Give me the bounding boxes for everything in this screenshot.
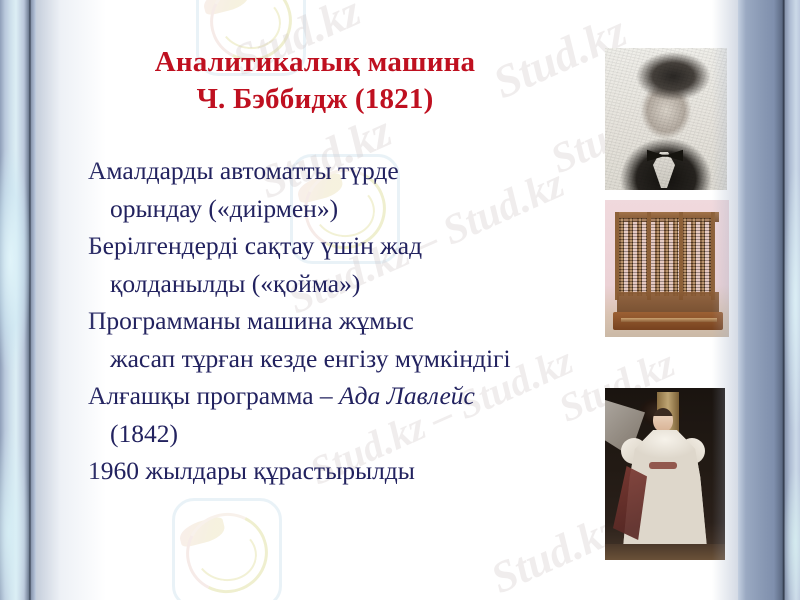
body-line: орындау («диірмен»)	[88, 190, 608, 228]
logo-leaf-shape	[177, 516, 227, 548]
body-line-with-emphasis: Алғашқы программа – Ада Лавлейс	[88, 377, 608, 415]
analytical-engine-image	[605, 200, 729, 337]
title-line-1: Аналитикалық машина	[80, 44, 550, 81]
babbage-portrait-image	[605, 48, 727, 190]
ada-lovelace-portrait-image	[605, 388, 725, 560]
right-border-highlight-upper	[784, 170, 800, 430]
stud-kz-logo-watermark-bottom	[172, 498, 282, 600]
body-line: Берілгендерді сақтау үшін жад	[88, 227, 608, 265]
body-line-emphasis: Ада Лавлейс	[339, 381, 475, 410]
logo-swirl-outer	[176, 502, 279, 600]
body-line: Программаны машина жұмыс	[88, 302, 608, 340]
engine-drive-rod	[621, 318, 717, 322]
logo-swirl-inner	[192, 523, 261, 585]
right-border-band	[738, 0, 800, 600]
slide-title: Аналитикалық машина Ч. Бэббидж (1821)	[80, 44, 550, 118]
slide: Stud.kz Stud.kz Stud.kz Stud.kz – Stud.k…	[0, 0, 800, 600]
body-line-text: Алғашқы программа –	[88, 381, 339, 410]
portrait-sash	[649, 462, 677, 469]
title-line-2: Ч. Бэббидж (1821)	[80, 81, 550, 118]
right-border-highlight-lower	[784, 470, 800, 600]
slide-body: Амалдарды автоматты түрде орындау («диір…	[88, 152, 608, 490]
logo-leaf-shape	[201, 0, 251, 16]
body-line: жасап тұрған кезде енгізу мүмкіндігі	[88, 340, 608, 378]
portrait-floor	[605, 544, 725, 560]
engraving-grain-overlay	[605, 48, 727, 190]
left-border-highlight-lower	[0, 430, 30, 600]
engine-vertical-posts	[615, 212, 719, 300]
body-line: қолданылды («қойма»)	[88, 265, 608, 303]
portrait-head	[653, 408, 673, 432]
body-line: (1842)	[88, 415, 608, 453]
left-border-highlight-upper	[0, 150, 30, 370]
left-border-band	[0, 0, 36, 600]
body-line: Амалдарды автоматты түрде	[88, 152, 608, 190]
body-line: 1960 жылдары құрастырылды	[88, 452, 608, 490]
